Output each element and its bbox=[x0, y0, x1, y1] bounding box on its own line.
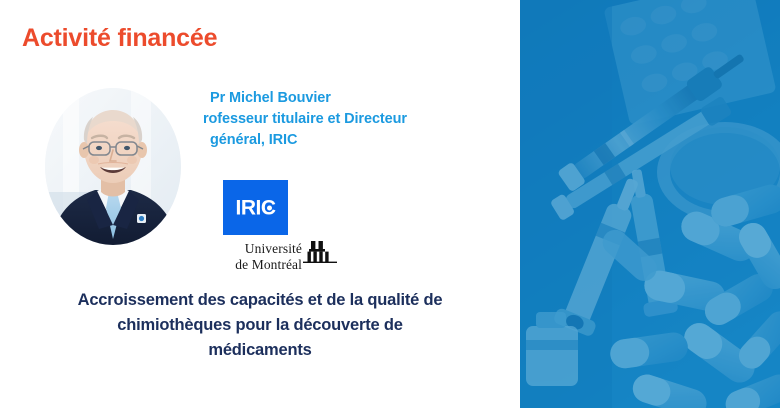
funded-activity-banner: Activité financée bbox=[0, 0, 780, 408]
universite-de-montreal-text: Université de Montréal bbox=[210, 241, 302, 273]
iric-logo-mark: IRIC bbox=[223, 180, 288, 235]
caption-line-3: médicaments bbox=[12, 338, 508, 363]
speaker-name: Pr Michel Bouvier bbox=[179, 88, 499, 109]
side-photo bbox=[520, 0, 780, 408]
speaker-title-line-2: général, IRIC bbox=[179, 130, 499, 151]
universite-de-montreal-logo: Université de Montréal bbox=[210, 241, 340, 277]
caption-line-1: Accroissement des capacités et de la qua… bbox=[12, 288, 508, 313]
udem-line-1: Université bbox=[210, 241, 302, 257]
caption-line-2: chimiothèques pour la découverte de bbox=[12, 313, 508, 338]
udem-line-2: de Montréal bbox=[210, 257, 302, 273]
udem-crest-icon bbox=[303, 241, 337, 263]
activity-caption: Accroissement des capacités et de la qua… bbox=[12, 288, 508, 363]
avatar bbox=[45, 88, 181, 245]
iric-logo: IRIC Université de Montréal bbox=[210, 180, 340, 277]
speaker-title-line-1: rofesseur titulaire et Directeur bbox=[172, 109, 499, 130]
iric-wordmark-part-2: C bbox=[261, 197, 276, 218]
left-content-panel: Activité financée bbox=[0, 0, 520, 408]
iric-logo-wordmark: IRIC bbox=[223, 197, 288, 218]
speaker-info: Pr Michel Bouvier rofesseur titulaire et… bbox=[179, 88, 499, 151]
iric-wordmark-part-1: IRI bbox=[235, 196, 260, 219]
page-title: Activité financée bbox=[22, 24, 217, 53]
